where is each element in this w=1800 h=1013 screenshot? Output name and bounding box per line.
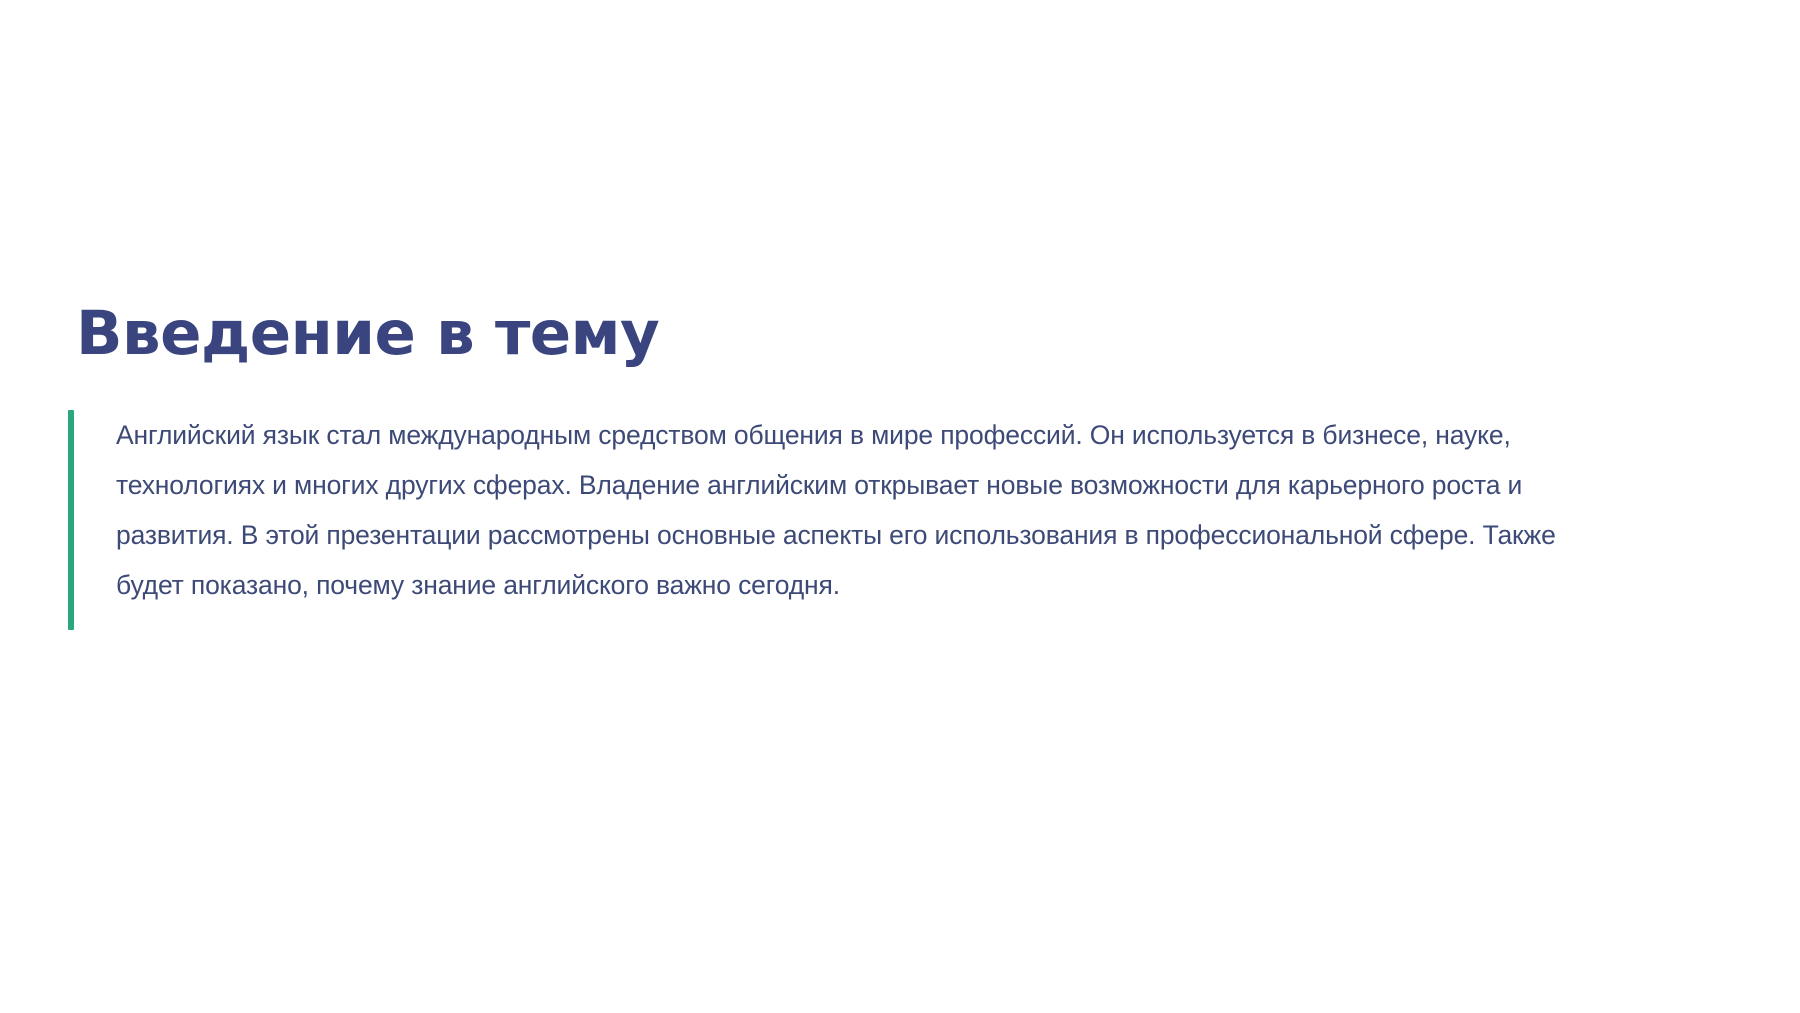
accent-bar [68, 410, 74, 630]
slide-content: Введение в тему Английский язык стал меж… [68, 300, 1568, 610]
presentation-slide: Введение в тему Английский язык стал меж… [0, 0, 1800, 1013]
body-paragraph: Английский язык стал международным средс… [116, 410, 1568, 610]
page-title: Введение в тему [76, 300, 1568, 368]
body-block: Английский язык стал международным средс… [68, 410, 1568, 610]
